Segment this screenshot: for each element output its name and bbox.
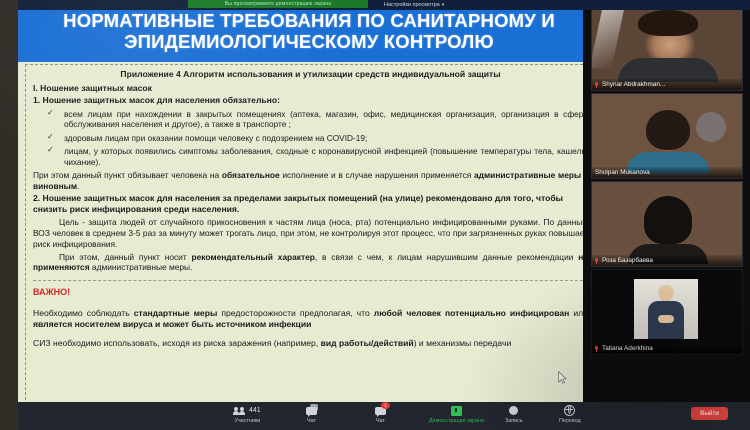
photo-frame: Вы просматриваете демонстрацию экрана На… (0, 0, 750, 430)
participants-label: Участники (234, 418, 260, 424)
background-decor (696, 112, 726, 142)
screen-share-notice[interactable]: Вы просматриваете демонстрацию экрана (188, 0, 368, 8)
list-item-text: здоровым лицам при оказании помощи челов… (64, 133, 367, 143)
video-feed (592, 94, 742, 178)
participant-name: Tatiana Aderkhina (602, 345, 653, 352)
important-block: ВАЖНО! Необходимо соблюдать стандартные … (33, 287, 588, 349)
txt: административные меры. (90, 262, 193, 272)
document-heading: Приложение 4 Алгоритм использования и ут… (33, 69, 588, 80)
person-hair (646, 110, 690, 150)
txt-bold: вид работы/действий (321, 338, 414, 348)
shared-slide: НОРМАТИВНЫЕ ТРЕБОВАНИЯ ПО САНИТАРНОМУ И … (18, 3, 600, 408)
paragraph-mandatory: При этом данный пункт обязывает человека… (33, 170, 588, 192)
section-divider (33, 280, 588, 281)
participant-count: 441 (249, 407, 261, 414)
share-screen-button[interactable]: Демонстрация экрана (429, 404, 484, 424)
txt-bold: рекомендательный характер (192, 252, 315, 262)
participant-namebar: Tatiana Aderkhina (592, 343, 742, 354)
requirements-list: ✓ всем лицам при нахождении в закрытых п… (33, 109, 588, 168)
record-label: Запись (505, 418, 523, 424)
participant-video-strip: Shynar Abdrakhman... Sholpan Mukanova (583, 3, 750, 405)
person-hair (644, 196, 692, 244)
participant-tile[interactable]: Роза Базарбаева (591, 181, 743, 267)
zoom-bottom-toolbar: 441 Участники Чат 1 Чат Демонстрация экр… (18, 402, 750, 430)
page-title: НОРМАТИВНЫЕ ТРЕБОВАНИЯ ПО САНИТАРНОМУ И … (32, 11, 586, 52)
mic-muted-icon (595, 258, 599, 264)
slide-content: Приложение 4 Алгоритм использования и ут… (25, 64, 593, 405)
paragraph-recommendation: При этом, данный пункт носит рекомендате… (33, 252, 588, 274)
video-feed (592, 6, 742, 90)
chat-bubble-icon (306, 404, 317, 417)
txt: , в связи с чем, к лицам нарушившим данн… (315, 252, 578, 262)
share-screen-icon (451, 404, 462, 417)
txt-bold: является носителем вируса и может быть и… (33, 319, 311, 329)
chevron-down-icon: ▾ (442, 2, 445, 8)
person-hair (638, 10, 698, 36)
light-glare (591, 8, 624, 68)
txt-bold: стандартные меры (134, 308, 218, 318)
participant-tile[interactable]: Sholpan Mukanova (591, 93, 743, 179)
txt: При этом данный пункт обязывает человека… (33, 170, 222, 180)
zoom-top-bar: Вы просматриваете демонстрацию экрана На… (18, 0, 750, 10)
list-item: ✓ всем лицам при нахождении в закрытых п… (47, 109, 588, 131)
screen-share-notice-label: Вы просматриваете демонстрацию экрана (188, 0, 368, 8)
slide-title-band: НОРМАТИВНЫЕ ТРЕБОВАНИЯ ПО САНИТАРНОМУ И … (18, 3, 600, 62)
chat-label: Чат (307, 418, 316, 424)
participants-button[interactable]: 441 Участники (234, 404, 261, 424)
list-item: ✓ здоровым лицам при оказании помощи чел… (47, 133, 588, 144)
video-feed (592, 270, 742, 354)
txt: исполнение и в случае нарушения применяе… (280, 170, 474, 180)
participant-namebar: Роза Базарбаева (592, 255, 742, 266)
participant-namebar: Sholpan Mukanova (592, 167, 742, 178)
txt: предосторожности предполагая, что (217, 308, 373, 318)
participant-name: Shynar Abdrakhman... (602, 81, 665, 88)
mic-muted-icon (595, 346, 599, 352)
participant-name: Sholpan Mukanova (595, 169, 650, 176)
leave-meeting-button[interactable]: Выйти (691, 407, 728, 420)
globe-icon (564, 404, 575, 417)
record-button[interactable]: Запись (505, 404, 523, 424)
view-settings-label: Настройки просмотра (384, 2, 440, 8)
important-title: ВАЖНО! (33, 287, 588, 299)
txt: Необходимо соблюдать (33, 308, 134, 318)
share-screen-label: Демонстрация экрана (429, 418, 484, 424)
interpretation-label: Перевод (559, 418, 581, 424)
txt: ) и механизмы передачи (414, 338, 512, 348)
record-circle-icon (509, 404, 518, 417)
screen-area: Вы просматриваете демонстрацию экрана На… (18, 0, 750, 430)
list-item-text: лицам, у которых появились симптомы забо… (64, 146, 588, 167)
paragraph-goal: Цель - защита людей от случайного прикос… (33, 217, 588, 249)
reactions-label: Чат (376, 418, 385, 424)
interpretation-button[interactable]: Перевод (559, 404, 581, 424)
person-hands (658, 315, 674, 323)
reaction-bubble-icon: 1 (375, 404, 386, 417)
document-section-1: I. Ношение защитных масок (33, 83, 588, 94)
people-icon: 441 (234, 404, 261, 417)
txt-bold: обязательное (222, 170, 280, 180)
important-paragraph-2: СИЗ необходимо использовать, исходя из р… (33, 338, 588, 350)
participant-name: Роза Базарбаева (602, 257, 653, 264)
check-icon: ✓ (47, 108, 54, 118)
document-item-2: 2. Ношение защитных масок для населения … (33, 193, 588, 215)
txt: При этом, данный пункт носит (59, 252, 192, 262)
reactions-button[interactable]: 1 Чат (375, 404, 386, 424)
mic-muted-icon (595, 82, 599, 88)
view-settings-button[interactable]: Настройки просмотра ▾ (384, 0, 444, 9)
list-item-text: всем лицам при нахождении в закрытых пом… (64, 109, 588, 130)
sign-language-feed (634, 279, 698, 339)
check-icon: ✓ (47, 132, 54, 142)
participant-tile[interactable]: Tatiana Aderkhina (591, 269, 743, 355)
txt: СИЗ необходимо использовать, исходя из р… (33, 338, 321, 348)
txt-bold: любой человек потенциально инфицирован (374, 308, 570, 318)
notification-badge: 1 (381, 402, 390, 409)
txt: . (77, 181, 79, 191)
participant-namebar: Shynar Abdrakhman... (592, 79, 742, 90)
list-item: ✓ лицам, у которых появились симптомы за… (47, 146, 588, 168)
chat-button[interactable]: Чат (306, 404, 317, 424)
check-icon: ✓ (47, 145, 54, 155)
participant-tile[interactable]: Shynar Abdrakhman... (591, 5, 743, 91)
video-feed (592, 182, 742, 266)
person-head (659, 287, 673, 302)
important-paragraph-1: Необходимо соблюдать стандартные меры пр… (33, 308, 588, 331)
document-item-1: 1. Ношение защитных масок для населения … (33, 95, 588, 106)
